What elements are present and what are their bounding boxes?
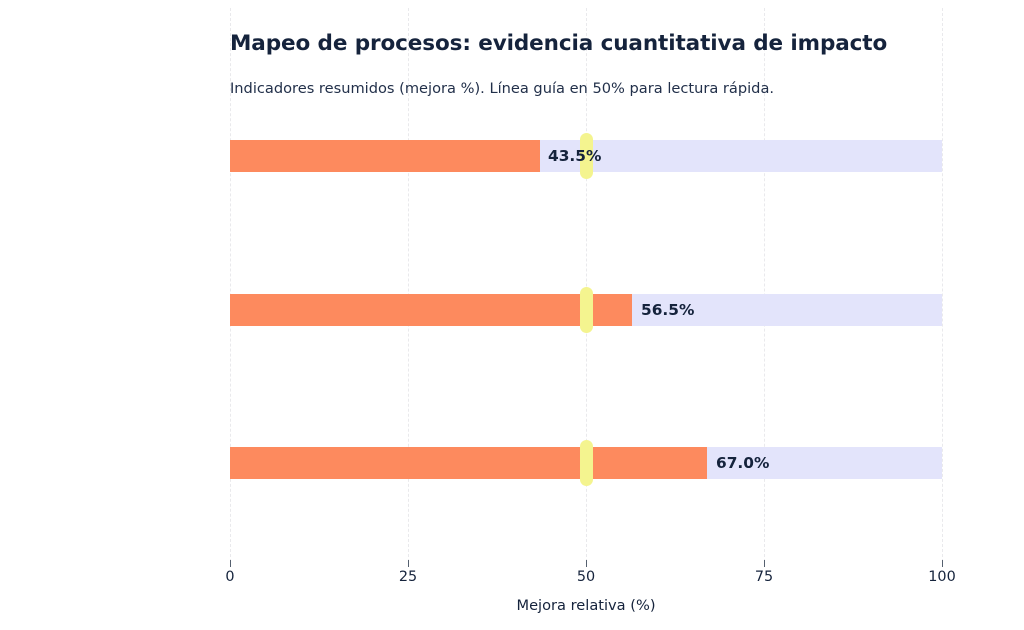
x-tick-label-25: 25 (399, 569, 417, 585)
bar-fill-0[interactable] (230, 140, 540, 172)
value-label-1: 56.5% (641, 301, 694, 319)
bar-fill-2[interactable] (230, 447, 707, 479)
x-tick-label-50: 50 (577, 569, 595, 585)
chart-title: Mapeo de procesos: evidencia cuantitativ… (230, 31, 887, 56)
bullet-bar-chart: Mapeo de procesos: evidencia cuantitativ… (0, 0, 1024, 630)
x-tick-mark-50 (586, 560, 587, 567)
reference-line-marker-1 (580, 287, 593, 333)
x-axis-title: Mejora relativa (%) (516, 597, 655, 614)
reference-line-marker-2 (580, 440, 593, 486)
x-tick-mark-100 (942, 560, 943, 567)
x-tick-mark-75 (764, 560, 765, 567)
x-tick-mark-0 (230, 560, 231, 567)
x-tick-label-75: 75 (755, 569, 773, 585)
value-label-0: 43.5% (548, 147, 601, 165)
value-label-2: 67.0% (716, 454, 769, 472)
chart-subtitle: Indicadores resumidos (mejora %). Línea … (230, 80, 774, 97)
x-tick-label-100: 100 (928, 569, 955, 585)
bar-fill-1[interactable] (230, 294, 632, 326)
x-tick-label-0: 0 (225, 569, 234, 585)
gridline-100 (942, 8, 943, 567)
x-tick-mark-25 (408, 560, 409, 567)
